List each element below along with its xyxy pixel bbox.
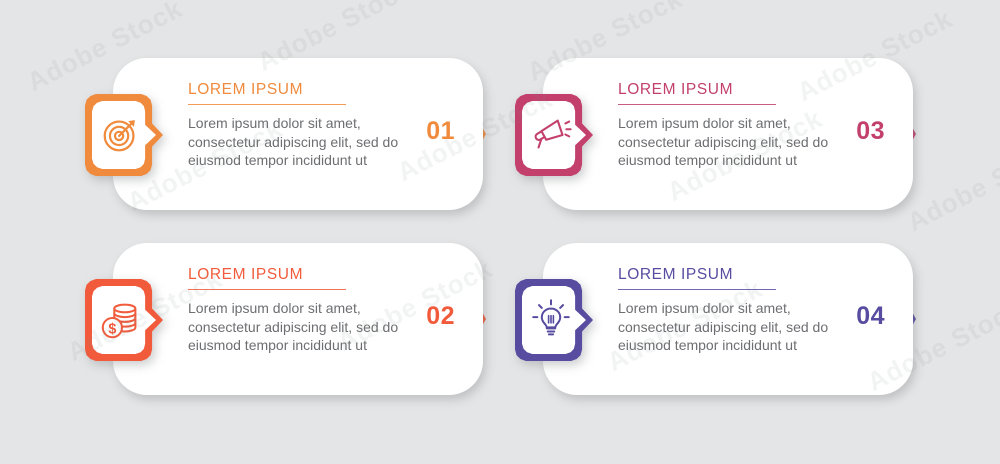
card-content-01: LOREM IPSUM Lorem ipsum dolor sit amet, … (188, 81, 428, 170)
coins-icon: $ (98, 296, 144, 342)
card-number-02: 02 (426, 302, 455, 331)
megaphone-icon (528, 111, 574, 157)
infographic-card-03[interactable]: LOREM IPSUM Lorem ipsum dolor sit amet, … (543, 58, 913, 210)
infographic-card-01[interactable]: LOREM IPSUM Lorem ipsum dolor sit amet, … (113, 58, 483, 210)
card-content-02: LOREM IPSUM Lorem ipsum dolor sit amet, … (188, 266, 428, 355)
title-rule-04 (618, 289, 776, 290)
card-content-04: LOREM IPSUM Lorem ipsum dolor sit amet, … (618, 266, 858, 355)
target-icon (98, 111, 144, 157)
card-content-03: LOREM IPSUM Lorem ipsum dolor sit amet, … (618, 81, 858, 170)
card-number-03: 03 (856, 117, 885, 146)
infographic-card-04[interactable]: LOREM IPSUM Lorem ipsum dolor sit amet, … (543, 243, 913, 395)
title-rule-01 (188, 104, 346, 105)
infographic-board: LOREM IPSUM Lorem ipsum dolor sit amet, … (0, 0, 1000, 464)
card-title-04: LOREM IPSUM (618, 266, 858, 284)
card-number-04: 04 (856, 302, 885, 331)
card-body-02: Lorem ipsum dolor sit amet, consectetur … (188, 299, 420, 355)
title-rule-02 (188, 289, 346, 290)
icon-badge-02[interactable]: $ (85, 279, 163, 361)
svg-text:$: $ (108, 321, 116, 337)
card-title-03: LOREM IPSUM (618, 81, 858, 99)
card-title-01: LOREM IPSUM (188, 81, 428, 99)
icon-badge-01[interactable] (85, 94, 163, 176)
card-body-04: Lorem ipsum dolor sit amet, consectetur … (618, 299, 850, 355)
card-body-03: Lorem ipsum dolor sit amet, consectetur … (618, 114, 850, 170)
card-number-01: 01 (426, 117, 455, 146)
icon-badge-04[interactable] (515, 279, 593, 361)
title-rule-03 (618, 104, 776, 105)
lightbulb-icon (528, 296, 574, 342)
infographic-card-02[interactable]: $ LOREM IPSUM Lorem ipsum dolor sit amet… (113, 243, 483, 395)
icon-badge-03[interactable] (515, 94, 593, 176)
card-title-02: LOREM IPSUM (188, 266, 428, 284)
card-body-01: Lorem ipsum dolor sit amet, consectetur … (188, 114, 420, 170)
